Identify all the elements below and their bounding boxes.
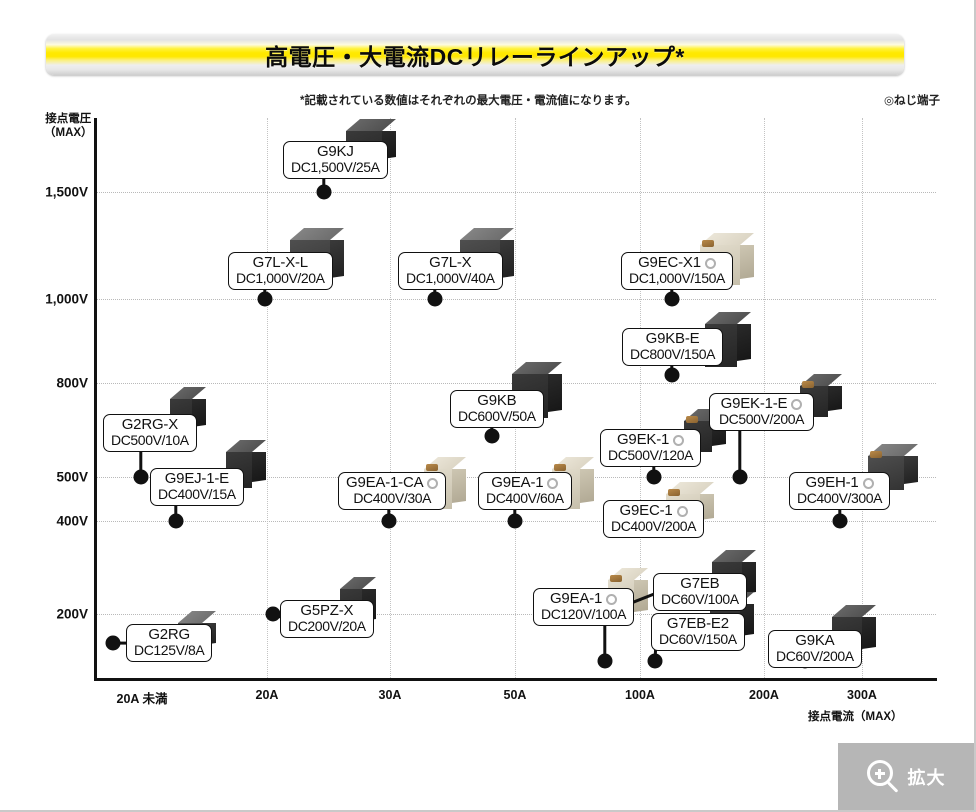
relay-model-name-text: G9EK-1 <box>617 432 669 448</box>
relay-spec-text: DC500V/10A <box>111 433 189 448</box>
data-label-callout[interactable]: G9EK-1DC500V/120A <box>600 429 701 467</box>
relay-spec-text: DC400V/30A <box>346 491 438 506</box>
y-axis-tick-label: 800V <box>56 376 88 391</box>
relay-top-face <box>340 577 376 589</box>
y-axis-tick-label: 1,500V <box>45 185 88 200</box>
relay-spec-text: DC125V/8A <box>134 643 204 658</box>
relay-spec-text: DC1,000V/20A <box>236 271 325 286</box>
x-axis-tick-label: 30A <box>379 688 402 702</box>
relay-model-name: G2RG <box>134 627 204 643</box>
data-label-callout[interactable]: G7L-XDC1,000V/40A <box>398 252 503 290</box>
relay-spec-text: DC1,500V/25A <box>291 160 380 175</box>
data-label-callout[interactable]: G5PZ-XDC200V/20A <box>280 600 374 638</box>
relay-terminal-lug <box>802 381 814 388</box>
relay-spec-text: DC1,000V/150A <box>629 271 725 286</box>
relay-model-name: G9KJ <box>291 144 380 160</box>
x-axis-title: 接点電流（MAX） <box>808 708 903 724</box>
relay-terminal-lug <box>668 489 680 496</box>
relay-terminal-lug <box>426 464 438 471</box>
relay-spec-text: DC400V/60A <box>486 491 564 506</box>
relay-model-name-text: G9EC-X1 <box>638 255 701 271</box>
relay-model-name-text: G7L-X <box>429 255 471 271</box>
data-point-dot[interactable] <box>317 185 332 200</box>
data-label-callout[interactable]: G9EA-1DC400V/60A <box>478 472 572 510</box>
data-point-dot[interactable] <box>665 292 680 307</box>
relay-spec-text: DC1,000V/40A <box>406 271 495 286</box>
relay-model-name-text: G9EA-1 <box>550 591 602 607</box>
data-label-callout[interactable]: G9EC-X1DC1,000V/150A <box>621 252 733 290</box>
relay-spec-text: DC60V/150A <box>659 632 737 647</box>
screw-terminal-icon <box>606 594 617 605</box>
relay-model-name: G9KB <box>458 393 536 409</box>
screw-terminal-icon <box>677 506 688 517</box>
data-label-callout[interactable]: G9EA-1-CADC400V/30A <box>338 472 446 510</box>
relay-top-face <box>712 550 756 562</box>
relay-model-name: G7L-X <box>406 255 495 271</box>
relay-spec-text: DC60V/100A <box>661 592 739 607</box>
relay-top-face <box>705 312 751 324</box>
x-axis-tick-label: 200A <box>749 688 779 702</box>
y-axis-title-line2: （MAX） <box>44 127 93 139</box>
x-axis-tick-label: 20A 未満 <box>117 688 168 707</box>
relay-terminal-lug <box>702 240 714 247</box>
x-axis-tick-label: 300A <box>847 688 877 702</box>
relay-model-name: G7EB-E2 <box>659 616 737 632</box>
y-axis-tick-label: 400V <box>56 514 88 529</box>
relay-model-name-text: G9EA-1-CA <box>346 475 423 491</box>
relay-top-face <box>226 440 266 452</box>
data-label-callout[interactable]: G7EB-E2DC60V/150A <box>651 613 745 651</box>
relay-model-name: G9EK-1-E <box>717 396 806 412</box>
relay-top-face <box>346 119 396 131</box>
relay-model-name: G9EA-1 <box>486 475 564 491</box>
data-label-callout[interactable]: G9EA-1DC120V/100A <box>533 588 634 626</box>
relay-side-face <box>828 386 842 411</box>
screw-terminal-icon <box>705 258 716 269</box>
relay-terminal-lug <box>610 575 622 582</box>
relay-terminal-lug <box>686 416 698 423</box>
relay-model-name-text: G9KJ <box>317 144 354 160</box>
data-point-dot[interactable] <box>508 514 523 529</box>
relay-model-name-text: G9EJ-1-E <box>165 471 229 487</box>
data-point-dot[interactable] <box>169 514 184 529</box>
data-point-dot[interactable] <box>598 654 613 669</box>
relay-model-name: G9KA <box>776 633 854 649</box>
relay-model-name: G7EB <box>661 576 739 592</box>
gridline-horizontal <box>97 299 936 300</box>
data-point-dot[interactable] <box>106 636 121 651</box>
relay-model-name-text: G9EA-1 <box>491 475 543 491</box>
data-label-callout[interactable]: G9KADC60V/200A <box>768 630 862 668</box>
data-label-callout[interactable]: G9EJ-1-EDC400V/15A <box>150 468 244 506</box>
relay-side-face <box>580 469 594 503</box>
data-point-dot[interactable] <box>648 654 663 669</box>
relay-model-name-text: G9EK-1-E <box>721 396 788 412</box>
relay-model-name: G9EA-1 <box>541 591 626 607</box>
relay-model-name-text: G2RG-X <box>122 417 178 433</box>
relay-model-name-text: G2RG <box>148 627 190 643</box>
data-label-callout[interactable]: G7L-X-LDC1,000V/20A <box>228 252 333 290</box>
x-axis-tick-label: 100A <box>625 688 655 702</box>
relay-model-name-text: G5PZ-X <box>300 603 353 619</box>
gridline-vertical <box>267 118 268 678</box>
data-label-callout[interactable]: G9EC-1DC400V/200A <box>603 500 704 538</box>
relay-top-face <box>290 228 344 240</box>
relay-terminal-lug <box>554 464 566 471</box>
relay-spec-text: DC120V/100A <box>541 607 626 622</box>
data-label-callout[interactable]: G7EBDC60V/100A <box>653 573 747 611</box>
relay-model-name: G9EK-1 <box>608 432 693 448</box>
relay-model-name: G9EC-1 <box>611 503 696 519</box>
relay-top-face <box>178 611 216 623</box>
relay-model-name-text: G7EB-E2 <box>667 616 729 632</box>
relay-model-name: G5PZ-X <box>288 603 366 619</box>
relay-side-face <box>252 452 266 482</box>
y-axis-tick-label: 1,000V <box>45 292 88 307</box>
x-axis-tick-label: 50A <box>504 688 527 702</box>
relay-model-name: G9KB-E <box>630 331 715 347</box>
relay-model-name-text: G7EB <box>680 576 719 592</box>
relay-model-name-text: G7L-X-L <box>253 255 308 271</box>
y-axis-tick-label: 500V <box>56 470 88 485</box>
relay-model-name-text: G9KB <box>477 393 516 409</box>
relay-model-name-text: G9KA <box>795 633 834 649</box>
relay-model-name: G9EJ-1-E <box>158 471 236 487</box>
relay-terminal-lug <box>870 451 882 458</box>
relay-top-face <box>460 228 514 240</box>
data-point-dot[interactable] <box>733 470 748 485</box>
data-label-callout[interactable]: G9KB-EDC800V/150A <box>622 328 723 366</box>
relay-side-face <box>548 374 562 412</box>
relay-side-face <box>740 245 754 279</box>
relay-model-name: G9EH-1 <box>797 475 882 491</box>
relay-model-name: G7L-X-L <box>236 255 325 271</box>
relay-spec-text: DC800V/150A <box>630 347 715 362</box>
gridline-vertical <box>390 118 391 678</box>
relay-side-face <box>737 324 751 361</box>
screw-terminal-icon <box>427 478 438 489</box>
relay-model-name: G9EA-1-CA <box>346 475 438 491</box>
gridline-horizontal <box>97 192 936 193</box>
chart-plot-area: 接点電圧 （MAX） 1,500V1,000V800V500V400V200V … <box>0 0 976 812</box>
relay-top-face <box>170 387 206 399</box>
data-label-callout[interactable]: G9KBDC600V/50A <box>450 390 544 428</box>
enlarge-button[interactable]: 拡大 <box>838 743 974 810</box>
y-axis-tick-label: 200V <box>56 607 88 622</box>
relay-model-name-text: G9EC-1 <box>620 503 673 519</box>
relay-spec-text: DC60V/200A <box>776 649 854 664</box>
screw-terminal-icon <box>673 435 684 446</box>
relay-spec-text: DC500V/200A <box>717 412 806 427</box>
y-axis-title-line1: 接点電圧 <box>45 113 91 125</box>
relay-model-name: G2RG-X <box>111 417 189 433</box>
relay-side-face <box>904 456 918 484</box>
data-point-dot[interactable] <box>833 514 848 529</box>
data-point-dot[interactable] <box>382 514 397 529</box>
data-label-callout[interactable]: G2RG-XDC500V/10A <box>103 414 197 452</box>
data-point-dot[interactable] <box>665 368 680 383</box>
relay-spec-text: DC500V/120A <box>608 448 693 463</box>
data-point-dot[interactable] <box>647 470 662 485</box>
x-axis-line <box>94 678 937 681</box>
data-point-dot[interactable] <box>266 607 281 622</box>
screw-terminal-icon <box>863 478 874 489</box>
relay-side-face <box>862 617 876 649</box>
relay-spec-text: DC200V/20A <box>288 619 366 634</box>
data-label-callout[interactable]: G2RGDC125V/8A <box>126 624 212 662</box>
data-label-callout[interactable]: G9KJDC1,500V/25A <box>283 141 388 179</box>
relay-spec-text: DC400V/15A <box>158 487 236 502</box>
relay-model-name: G9EC-X1 <box>629 255 725 271</box>
relay-spec-text: DC400V/200A <box>611 519 696 534</box>
data-point-dot[interactable] <box>485 429 500 444</box>
relay-model-name-text: G9EH-1 <box>806 475 859 491</box>
y-axis-title: 接点電圧 （MAX） <box>44 112 93 141</box>
y-axis-line <box>94 118 97 680</box>
screw-terminal-icon <box>791 399 802 410</box>
relay-top-face <box>832 605 876 617</box>
relay-top-face <box>512 362 562 374</box>
relay-side-face <box>452 469 466 503</box>
data-point-dot[interactable] <box>258 292 273 307</box>
data-point-dot[interactable] <box>134 470 149 485</box>
enlarge-button-label: 拡大 <box>908 764 946 790</box>
data-point-dot[interactable] <box>428 292 443 307</box>
relay-model-name-text: G9KB-E <box>646 331 700 347</box>
screw-terminal-icon <box>547 478 558 489</box>
x-axis-tick-label: 20A <box>256 688 279 702</box>
relay-spec-text: DC600V/50A <box>458 409 536 424</box>
gridline-vertical <box>862 118 863 678</box>
relay-spec-text: DC400V/300A <box>797 491 882 506</box>
magnifier-plus-icon <box>867 760 901 794</box>
data-label-callout[interactable]: G9EH-1DC400V/300A <box>789 472 890 510</box>
data-label-callout[interactable]: G9EK-1-EDC500V/200A <box>709 393 814 431</box>
page-root: 高電圧・大電流DCリレーラインアップ* *記載されている数値はそれぞれの最大電圧… <box>0 0 976 812</box>
